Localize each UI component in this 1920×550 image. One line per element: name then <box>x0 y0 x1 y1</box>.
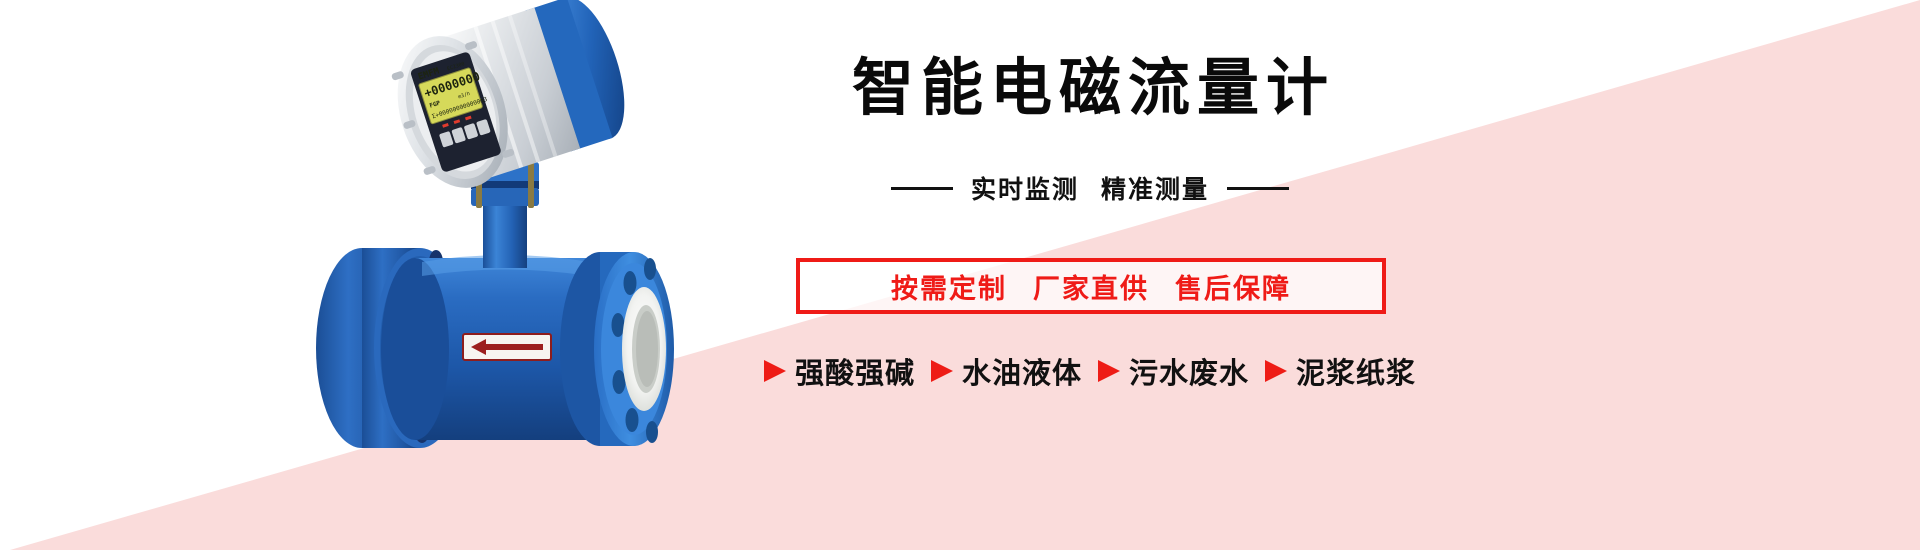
subtitle-right: 精准测量 <box>1101 175 1209 204</box>
subtitle-row: 实时监测精准测量 <box>740 170 1440 206</box>
promo-item-2: 厂家直供 <box>1033 274 1149 305</box>
feature-label: 强酸强碱 <box>795 350 915 392</box>
subtitle-left: 实时监测 <box>971 175 1079 204</box>
feature-label: 污水废水 <box>1129 350 1249 392</box>
triangle-right-icon <box>1265 360 1287 382</box>
flowmeter-illustration: EMFM EC2300 +0000000 FGP m3/h Σ+00000000… <box>300 0 780 550</box>
triangle-right-icon <box>1098 360 1120 382</box>
promo-badge-box: 按需定制厂家直供售后保障 <box>796 258 1386 314</box>
feature-label: 泥浆纸浆 <box>1296 350 1416 392</box>
promo-item-3: 售后保障 <box>1175 274 1291 305</box>
list-item: 泥浆纸浆 <box>1265 350 1416 392</box>
feature-list: 强酸强碱 水油液体 污水废水 泥浆纸浆 <box>700 350 1480 392</box>
feature-label: 水油液体 <box>962 350 1082 392</box>
product-banner: EMFM EC2300 +0000000 FGP m3/h Σ+00000000… <box>0 0 1920 550</box>
promo-item-1: 按需定制 <box>891 274 1007 305</box>
flow-direction-arrow-label <box>463 334 551 360</box>
subtitle-rule-right <box>1227 187 1289 190</box>
triangle-right-icon <box>931 360 953 382</box>
list-item: 水油液体 <box>931 350 1082 392</box>
banner-text-column: 智能电磁流量计 实时监测精准测量 按需定制厂家直供售后保障 强酸强碱 水油液体 … <box>740 0 1440 550</box>
list-item: 强酸强碱 <box>764 350 915 392</box>
subtitle-rule-left <box>891 187 953 190</box>
page-title: 智能电磁流量计 <box>740 52 1440 123</box>
list-item: 污水废水 <box>1098 350 1249 392</box>
triangle-right-icon <box>764 360 786 382</box>
subtitle-text: 实时监测精准测量 <box>971 170 1209 206</box>
promo-badge-text: 按需定制厂家直供售后保障 <box>891 267 1291 306</box>
right-flange <box>560 252 674 446</box>
